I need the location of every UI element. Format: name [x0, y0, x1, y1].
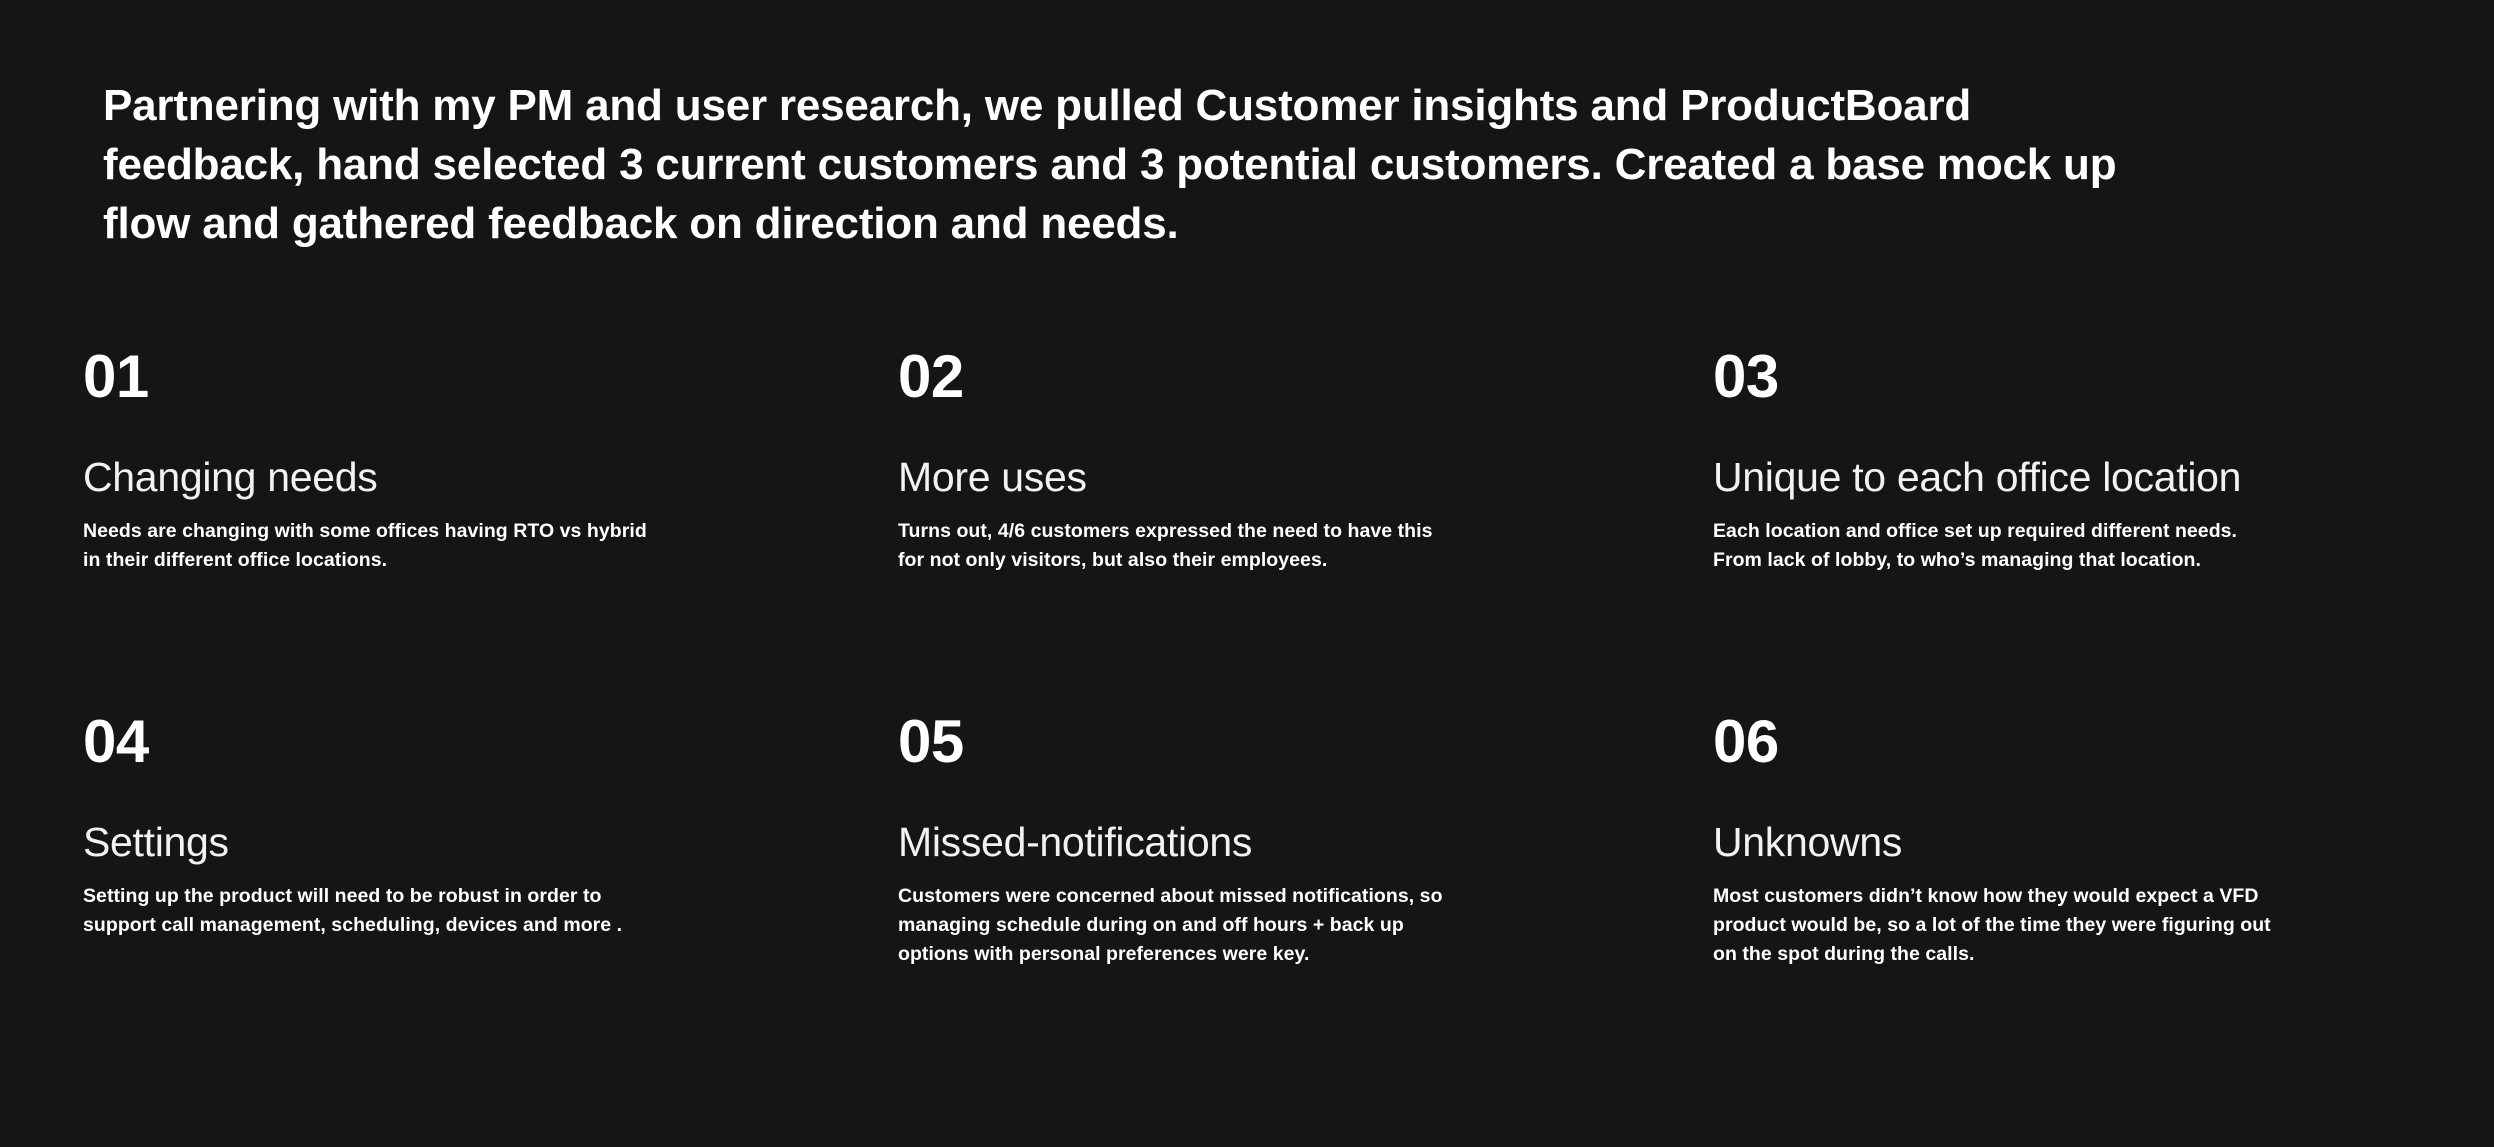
- intro-line-2: feedback, hand selected 3 current custom…: [103, 135, 2393, 194]
- insight-title: Missed-notifications: [898, 819, 1673, 865]
- insight-card-02: 02 More uses Turns out, 4/6 customers ex…: [898, 345, 1713, 710]
- insight-card-01: 01 Changing needs Needs are changing wit…: [83, 345, 898, 710]
- insight-body: Customers were concerned about missed no…: [898, 882, 1598, 969]
- insight-card-04: 04 Settings Setting up the product will …: [83, 710, 898, 969]
- insight-number: 04: [83, 710, 858, 774]
- insight-number: 05: [898, 710, 1673, 774]
- insight-number: 06: [1713, 710, 2403, 774]
- insights-grid: 01 Changing needs Needs are changing wit…: [83, 345, 2443, 969]
- intro-line-1: Partnering with my PM and user research,…: [103, 76, 2393, 135]
- insight-body: Turns out, 4/6 customers expressed the n…: [898, 517, 1598, 575]
- insight-card-03: 03 Unique to each office location Each l…: [1713, 345, 2443, 710]
- insight-title: More uses: [898, 454, 1673, 500]
- insight-body: Needs are changing with some offices hav…: [83, 517, 783, 575]
- insight-body: Setting up the product will need to be r…: [83, 882, 783, 940]
- insight-title: Changing needs: [83, 454, 858, 500]
- insight-card-05: 05 Missed-notifications Customers were c…: [898, 710, 1713, 969]
- insight-body: Each location and office set up required…: [1713, 517, 2403, 575]
- insight-number: 01: [83, 345, 858, 409]
- presentation-slide: Partnering with my PM and user research,…: [0, 0, 2494, 1147]
- insight-body: Most customers didn’t know how they woul…: [1713, 882, 2403, 969]
- insight-card-06: 06 Unknowns Most customers didn’t know h…: [1713, 710, 2443, 969]
- insight-title: Unique to each office location: [1713, 454, 2403, 500]
- insight-number: 02: [898, 345, 1673, 409]
- insight-number: 03: [1713, 345, 2403, 409]
- research-summary-paragraph: Partnering with my PM and user research,…: [103, 76, 2393, 253]
- insight-title: Settings: [83, 819, 858, 865]
- intro-line-3: flow and gathered feedback on direction …: [103, 194, 2393, 253]
- insight-title: Unknowns: [1713, 819, 2403, 865]
